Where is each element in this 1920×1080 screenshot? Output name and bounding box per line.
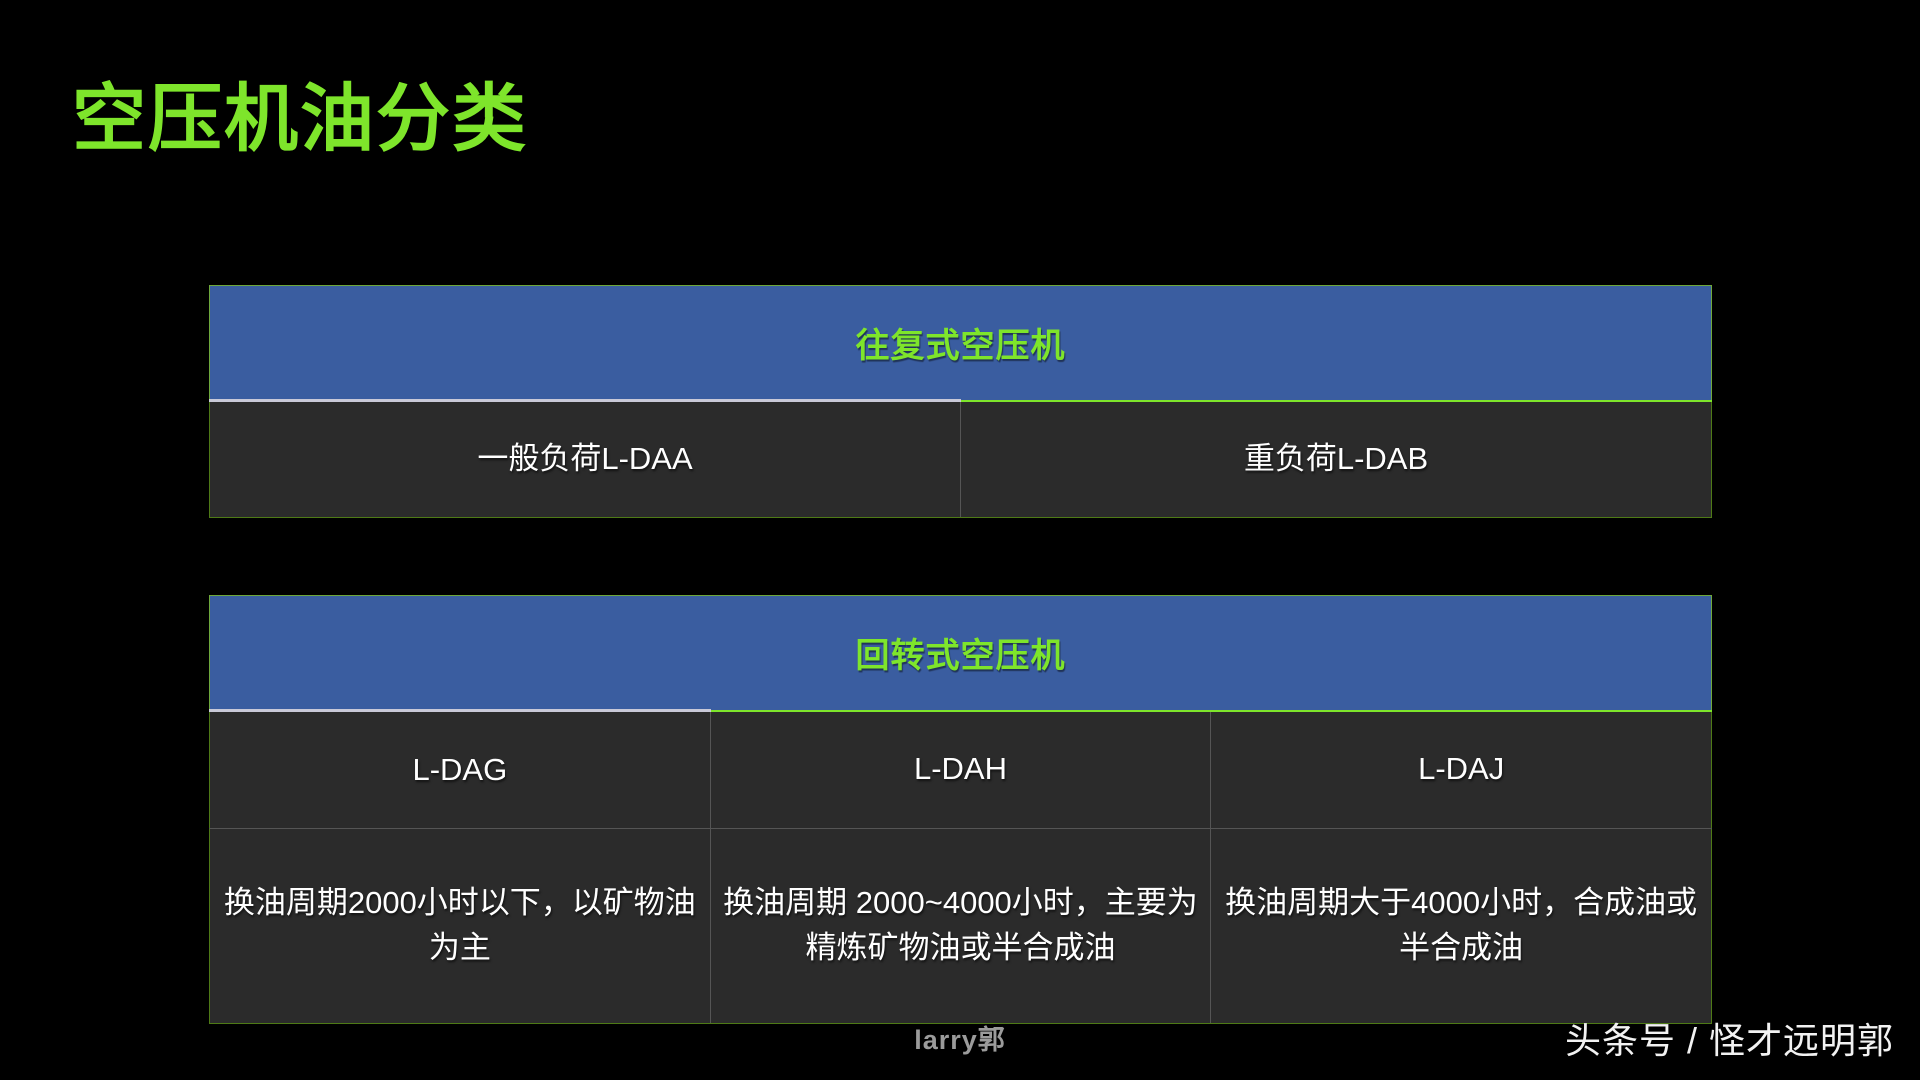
cell-desc-ldah: 换油周期 2000~4000小时，主要为精炼矿物油或半合成油 (710, 829, 1211, 1024)
cell-general-load: 一般负荷L-DAA (210, 401, 961, 518)
cell-code-ldah: L-DAH (710, 711, 1211, 829)
table-row: 一般负荷L-DAA 重负荷L-DAB (210, 401, 1712, 518)
table-row: 换油周期2000小时以下，以矿物油为主 换油周期 2000~4000小时，主要为… (210, 829, 1712, 1024)
cell-code-ldag: L-DAG (210, 711, 711, 829)
watermark-bottom-right: 头条号 / 怪才远明郭 (1565, 1012, 1894, 1064)
cell-desc-ldaj: 换油周期大于4000小时，合成油或半合成油 (1211, 829, 1712, 1024)
table-header-row: 回转式空压机 (210, 596, 1712, 711)
table-header-row: 往复式空压机 (210, 286, 1712, 401)
cell-heavy-load: 重负荷L-DAB (961, 401, 1712, 518)
table-header-reciprocating: 往复式空压机 (210, 286, 1712, 401)
page-title: 空压机油分类 (72, 78, 528, 159)
table-row: L-DAG L-DAH L-DAJ (210, 711, 1712, 829)
cell-desc-ldag: 换油周期2000小时以下，以矿物油为主 (210, 829, 711, 1024)
table-reciprocating-compressor: 往复式空压机 一般负荷L-DAA 重负荷L-DAB (209, 285, 1712, 518)
table-header-rotary: 回转式空压机 (210, 596, 1712, 711)
table-rotary-compressor: 回转式空压机 L-DAG L-DAH L-DAJ 换油周期2000小时以下，以矿… (209, 595, 1712, 1024)
cell-code-ldaj: L-DAJ (1211, 711, 1712, 829)
